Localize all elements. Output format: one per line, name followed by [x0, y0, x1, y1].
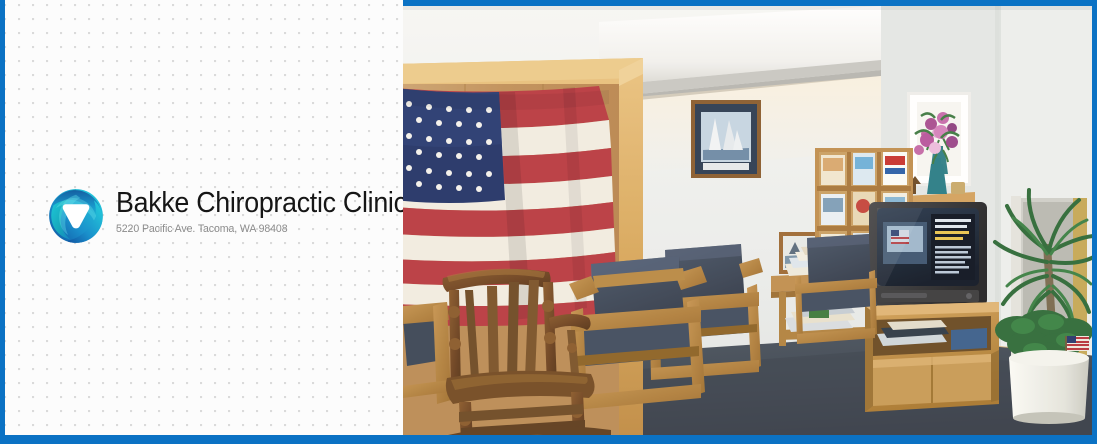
right-accent-border: [1092, 0, 1097, 444]
clinic-address: 5220 Pacific Ave. Tacoma, WA 98408: [116, 222, 413, 236]
brand-text-block: Bakke Chiropractic Clinic 5220 Pacific A…: [116, 186, 425, 236]
bottom-accent-border: [0, 435, 1097, 444]
brand-lockup[interactable]: Bakke Chiropractic Clinic 5220 Pacific A…: [48, 186, 425, 244]
branding-panel: Bakke Chiropractic Clinic 5220 Pacific A…: [0, 0, 403, 444]
top-accent-border: [403, 0, 1097, 6]
left-accent-border: [0, 0, 5, 444]
page-title: Bakke Chiropractic Clinic: [116, 187, 407, 219]
clinic-banner: Bakke Chiropractic Clinic 5220 Pacific A…: [0, 0, 1097, 444]
waiting-room-photo: [403, 0, 1097, 444]
triskelion-swirl-logo-icon: [48, 188, 104, 244]
